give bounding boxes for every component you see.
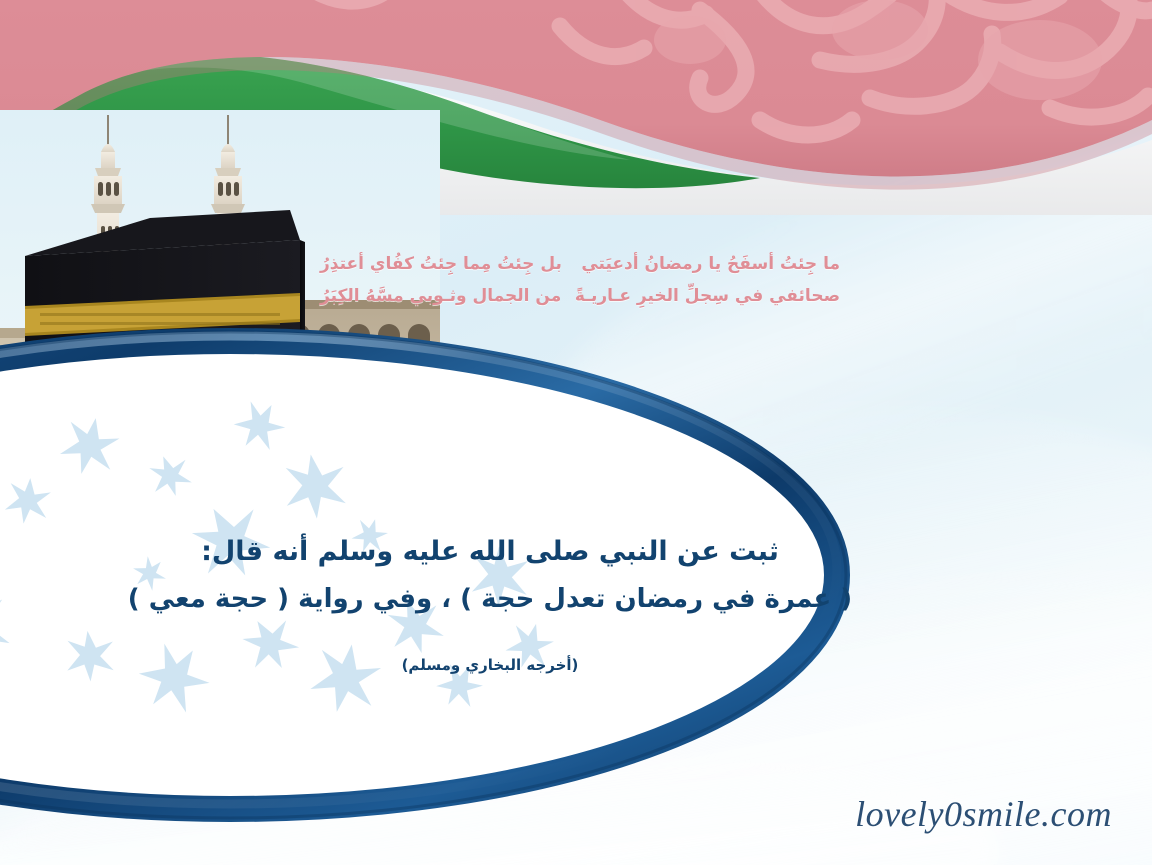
poetry-line-1-second: بل جِئتُ مِما جِئتُ كفُاي أعتذِرُ	[320, 248, 562, 280]
poetry-line-2: صحائفي في سِجلِّ الخيرِ عـاريـةً من الجم…	[320, 280, 840, 312]
poetry-line-1: ما جِئتُ أسفَحُ يا رمضانُ أدعيَتي بل جِئ…	[320, 248, 840, 280]
hadith-block: ثبت عن النبي صلى الله عليه وسلم أنه قال:…	[90, 530, 890, 674]
poetry-line-1-first: ما جِئتُ أسفَحُ يا رمضانُ أدعيَتي	[596, 248, 840, 280]
poetry-block: ما جِئتُ أسفَحُ يا رمضانُ أدعيَتي بل جِئ…	[320, 248, 840, 328]
hadith-source: (أخرجه البخاري ومسلم)	[90, 656, 890, 674]
greeting-card: ما جِئتُ أسفَحُ يا رمضانُ أدعيَتي بل جِئ…	[0, 0, 1152, 865]
hadith-intro: ثبت عن النبي صلى الله عليه وسلم أنه قال:	[90, 530, 890, 574]
poetry-line-2-first: صحائفي في سِجلِّ الخيرِ عـاريـةً	[595, 280, 840, 312]
hadith-text: ( عمرة في رمضان تعدل حجة ) ، وفي رواية (…	[90, 576, 890, 622]
poetry-line-2-second: من الجمال وثـوبي مسَّهُ الكِبَرُ	[320, 280, 561, 312]
site-watermark: lovely0smile.com	[855, 793, 1112, 835]
